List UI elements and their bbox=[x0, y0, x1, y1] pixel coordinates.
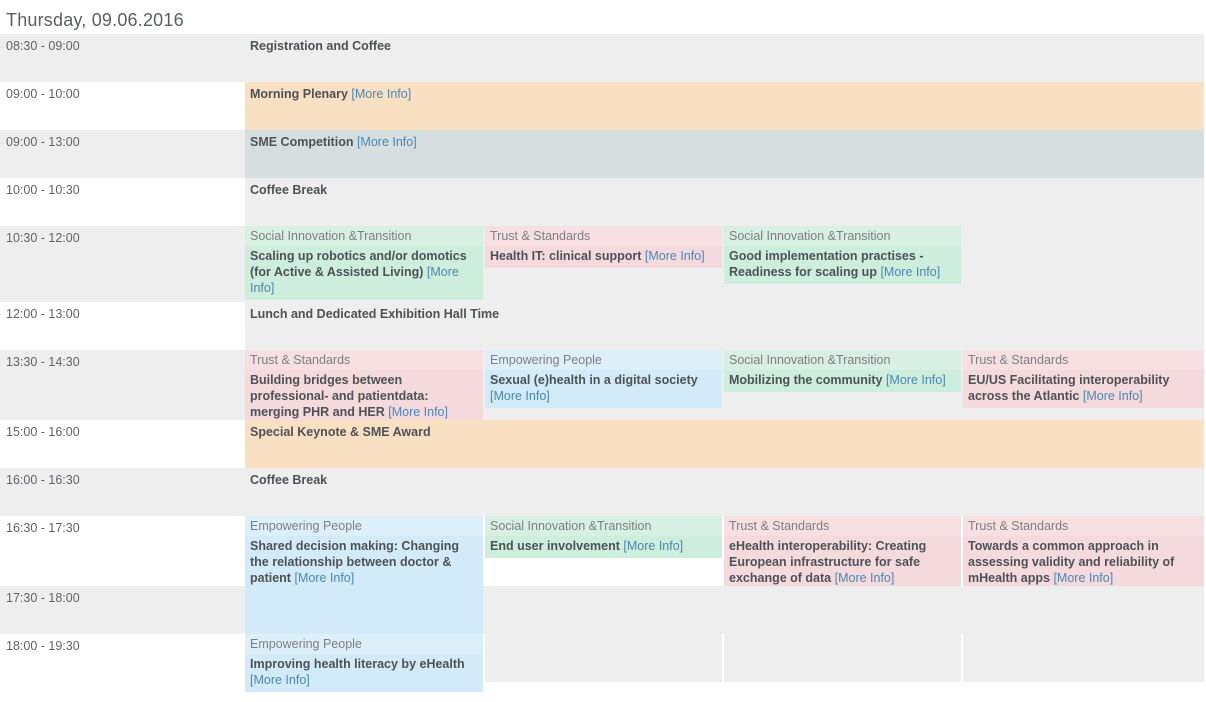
track-label: Trust & Standards bbox=[245, 350, 483, 370]
full-width-session: Registration and Coffee bbox=[245, 34, 1204, 82]
full-width-session: Coffee Break bbox=[245, 468, 1204, 516]
session-block: Special Keynote & SME Award bbox=[245, 420, 1204, 444]
schedule-row: 09:00 - 10:00Morning Plenary [More Info] bbox=[0, 82, 1204, 130]
session-cell[interactable]: Trust & StandardsEU/US Facilitating inte… bbox=[963, 350, 1204, 420]
row-time-label: 09:00 - 13:00 bbox=[0, 130, 243, 178]
more-info-link[interactable]: [More Info] bbox=[645, 249, 705, 263]
page-title: Thursday, 09.06.2016 bbox=[6, 10, 184, 30]
more-info-link[interactable]: [More Info] bbox=[351, 87, 411, 101]
row-time-label: 10:30 - 12:00 bbox=[0, 226, 243, 302]
session-block[interactable]: EU/US Facilitating interoperability acro… bbox=[963, 370, 1204, 408]
row-time-label: 17:30 - 18:00 bbox=[0, 586, 243, 634]
empty-session-cell bbox=[963, 226, 1204, 302]
session-block[interactable]: Health IT: clinical support [More Info] bbox=[485, 246, 722, 268]
more-info-link[interactable]: [More Info] bbox=[490, 389, 550, 403]
more-info-link[interactable]: [More Info] bbox=[388, 405, 448, 419]
track-label: Empowering People bbox=[245, 516, 483, 536]
schedule-row: 18:00 - 19:30Empowering PeopleImproving … bbox=[0, 634, 1204, 682]
session-cell bbox=[245, 586, 483, 634]
more-info-link[interactable]: [More Info] bbox=[623, 539, 683, 553]
track-label: Social Innovation &Transition bbox=[724, 350, 961, 370]
more-info-link[interactable]: [More Info] bbox=[1083, 389, 1143, 403]
schedule-row: 08:30 - 09:00Registration and Coffee bbox=[0, 34, 1204, 82]
track-label: Social Innovation &Transition bbox=[724, 226, 961, 246]
schedule-row: 17:30 - 18:00 bbox=[0, 586, 1204, 634]
session-block[interactable]: eHealth interoperability: Creating Europ… bbox=[724, 536, 961, 590]
session-block: Coffee Break bbox=[245, 178, 1204, 202]
session-block[interactable]: Building bridges between professional- a… bbox=[245, 370, 483, 424]
row-time-label: 09:00 - 10:00 bbox=[0, 82, 243, 130]
track-label: Social Innovation &Transition bbox=[485, 516, 722, 536]
session-block: Lunch and Dedicated Exhibition Hall Time bbox=[245, 302, 1204, 326]
session-title: eHealth interoperability: Creating Europ… bbox=[729, 539, 926, 585]
full-width-session: Lunch and Dedicated Exhibition Hall Time bbox=[245, 302, 1204, 350]
more-info-link[interactable]: [More Info] bbox=[1053, 571, 1113, 585]
more-info-link[interactable]: [More Info] bbox=[250, 673, 310, 687]
track-label: Trust & Standards bbox=[485, 226, 722, 246]
row-time-label: 12:00 - 13:00 bbox=[0, 302, 243, 350]
row-sessions bbox=[243, 586, 1204, 634]
row-sessions: Coffee Break bbox=[243, 468, 1204, 516]
session-block[interactable]: Sexual (e)health in a digital society [M… bbox=[485, 370, 722, 408]
session-block: Registration and Coffee bbox=[245, 34, 1204, 58]
full-width-session: Coffee Break bbox=[245, 178, 1204, 226]
row-time-label: 18:00 - 19:30 bbox=[0, 634, 243, 682]
session-block: Coffee Break bbox=[245, 468, 1204, 492]
row-sessions: Trust & StandardsBuilding bridges betwee… bbox=[243, 350, 1204, 420]
session-cell[interactable]: Trust & StandardsHealth IT: clinical sup… bbox=[485, 226, 722, 302]
row-time-label: 10:00 - 10:30 bbox=[0, 178, 243, 226]
empty-session-cell bbox=[724, 586, 961, 634]
schedule-row: 13:30 - 14:30Trust & StandardsBuilding b… bbox=[0, 350, 1204, 420]
more-info-link[interactable]: [More Info] bbox=[886, 373, 946, 387]
session-block[interactable]: Towards a common approach in assessing v… bbox=[963, 536, 1204, 590]
row-sessions: Coffee Break bbox=[243, 178, 1204, 226]
row-sessions: Morning Plenary [More Info] bbox=[243, 82, 1204, 130]
row-sessions: Lunch and Dedicated Exhibition Hall Time bbox=[243, 302, 1204, 350]
track-label: Trust & Standards bbox=[724, 516, 961, 536]
session-block[interactable]: Shared decision making: Changing the rel… bbox=[245, 536, 483, 590]
session-title: Shared decision making: Changing the rel… bbox=[250, 539, 459, 585]
session-block[interactable]: Scaling up robotics and/or domotics (for… bbox=[245, 246, 483, 300]
row-sessions: Empowering PeopleShared decision making:… bbox=[243, 516, 1204, 586]
empty-session-cell bbox=[963, 586, 1204, 634]
empty-session-cell bbox=[724, 634, 961, 682]
session-title: Improving health literacy by eHealth bbox=[250, 657, 465, 671]
empty-session-cell bbox=[485, 634, 722, 682]
session-cell[interactable]: Empowering PeopleShared decision making:… bbox=[245, 516, 483, 586]
session-title: Special Keynote & SME Award bbox=[250, 425, 431, 439]
full-width-session[interactable]: SME Competition [More Info] bbox=[245, 130, 1204, 178]
schedule-row: 10:00 - 10:30Coffee Break bbox=[0, 178, 1204, 226]
session-cell[interactable]: Empowering PeopleSexual (e)health in a d… bbox=[485, 350, 722, 420]
row-sessions: Empowering PeopleImproving health litera… bbox=[243, 634, 1204, 682]
row-time-label: 16:00 - 16:30 bbox=[0, 468, 243, 516]
session-cell[interactable]: Trust & StandardsTowards a common approa… bbox=[963, 516, 1204, 586]
row-sessions: Registration and Coffee bbox=[243, 34, 1204, 82]
session-title: Registration and Coffee bbox=[250, 39, 391, 53]
schedule-row: 12:00 - 13:00Lunch and Dedicated Exhibit… bbox=[0, 302, 1204, 350]
session-cell[interactable]: Social Innovation &TransitionGood implem… bbox=[724, 226, 961, 302]
session-cell[interactable]: Social Innovation &TransitionScaling up … bbox=[245, 226, 483, 302]
schedule-page: Thursday, 09.06.2016 08:30 - 09:00Regist… bbox=[0, 0, 1206, 702]
track-label: Trust & Standards bbox=[963, 516, 1204, 536]
more-info-link[interactable]: [More Info] bbox=[835, 571, 895, 585]
row-time-label: 16:30 - 17:30 bbox=[0, 516, 243, 586]
session-block[interactable]: SME Competition [More Info] bbox=[245, 130, 1204, 154]
row-time-label: 15:00 - 16:00 bbox=[0, 420, 243, 468]
full-width-session[interactable]: Morning Plenary [More Info] bbox=[245, 82, 1204, 130]
session-title: Morning Plenary bbox=[250, 87, 348, 101]
empty-session-cell bbox=[963, 634, 1204, 682]
schedule-row: 09:00 - 13:00SME Competition [More Info] bbox=[0, 130, 1204, 178]
session-block[interactable]: Good implementation practises - Readines… bbox=[724, 246, 961, 284]
empty-session-cell bbox=[485, 586, 722, 634]
session-block[interactable]: Improving health literacy by eHealth [Mo… bbox=[245, 654, 483, 692]
session-cell[interactable]: Empowering PeopleImproving health litera… bbox=[245, 634, 483, 682]
session-title: Coffee Break bbox=[250, 183, 327, 197]
schedule-row: 16:30 - 17:30Empowering PeopleShared dec… bbox=[0, 516, 1204, 586]
row-sessions: SME Competition [More Info] bbox=[243, 130, 1204, 178]
session-block[interactable]: Morning Plenary [More Info] bbox=[245, 82, 1204, 106]
track-label: Empowering People bbox=[245, 634, 483, 654]
session-cell[interactable]: Trust & StandardsBuilding bridges betwee… bbox=[245, 350, 483, 420]
schedule-grid: 08:30 - 09:00Registration and Coffee09:0… bbox=[0, 34, 1206, 682]
full-width-session: Special Keynote & SME Award bbox=[245, 420, 1204, 468]
session-block[interactable]: Mobilizing the community [More Info] bbox=[724, 370, 961, 392]
row-sessions: Special Keynote & SME Award bbox=[243, 420, 1204, 468]
schedule-row: 10:30 - 12:00Social Innovation &Transiti… bbox=[0, 226, 1204, 302]
session-block[interactable]: End user involvement [More Info] bbox=[485, 536, 722, 558]
session-title: Coffee Break bbox=[250, 473, 327, 487]
session-title: Mobilizing the community bbox=[729, 373, 882, 387]
schedule-row: 15:00 - 16:00Special Keynote & SME Award bbox=[0, 420, 1204, 468]
session-title: Lunch and Dedicated Exhibition Hall Time bbox=[250, 307, 499, 321]
more-info-link[interactable]: [More Info] bbox=[357, 135, 417, 149]
more-info-link[interactable]: [More Info] bbox=[294, 571, 354, 585]
schedule-row: 16:00 - 16:30Coffee Break bbox=[0, 468, 1204, 516]
session-title: SME Competition bbox=[250, 135, 353, 149]
session-title: Sexual (e)health in a digital society bbox=[490, 373, 698, 387]
session-cell[interactable]: Trust & StandardseHealth interoperabilit… bbox=[724, 516, 961, 586]
session-title: Health IT: clinical support bbox=[490, 249, 641, 263]
session-cell[interactable]: Social Innovation &TransitionMobilizing … bbox=[724, 350, 961, 420]
session-title: End user involvement bbox=[490, 539, 620, 553]
row-sessions: Social Innovation &TransitionScaling up … bbox=[243, 226, 1204, 302]
row-time-label: 13:30 - 14:30 bbox=[0, 350, 243, 420]
track-label: Social Innovation &Transition bbox=[245, 226, 483, 246]
track-label: Trust & Standards bbox=[963, 350, 1204, 370]
row-time-label: 08:30 - 09:00 bbox=[0, 34, 243, 82]
session-cell[interactable]: Social Innovation &TransitionEnd user in… bbox=[485, 516, 722, 586]
more-info-link[interactable]: [More Info] bbox=[880, 265, 940, 279]
track-label: Empowering People bbox=[485, 350, 722, 370]
